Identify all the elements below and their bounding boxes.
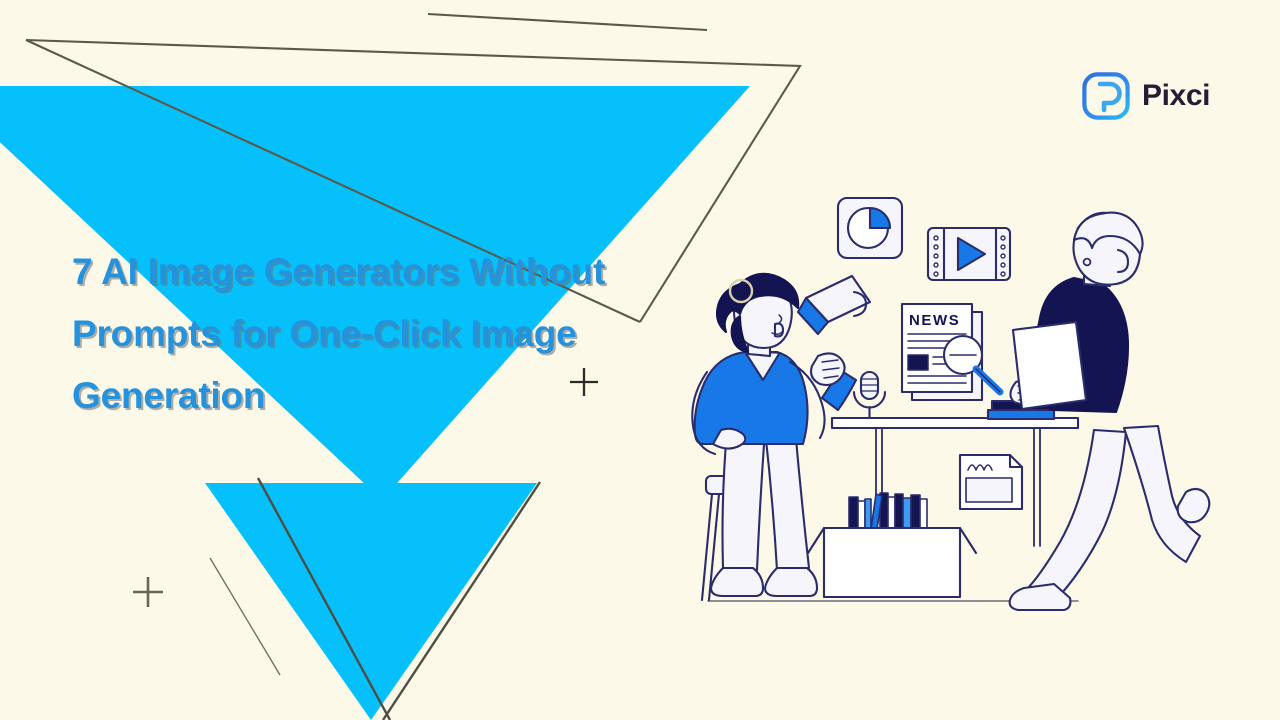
document-icon [960, 455, 1022, 509]
brand-name: Pixci [1142, 81, 1210, 111]
megaphone-icon [798, 276, 870, 334]
pixci-p-logo-icon [1082, 72, 1130, 120]
book-box [808, 493, 976, 597]
video-player-icon [928, 228, 1010, 280]
microphone-icon [854, 372, 885, 419]
poster-canvas: NEWS [0, 0, 1280, 720]
pie-chart-card-icon [838, 198, 902, 258]
news-label: NEWS [909, 312, 960, 329]
brand-lockup[interactable]: Pixci [1082, 72, 1210, 120]
page-title: 7 AI Image Generators Without Prompts fo… [72, 241, 612, 427]
